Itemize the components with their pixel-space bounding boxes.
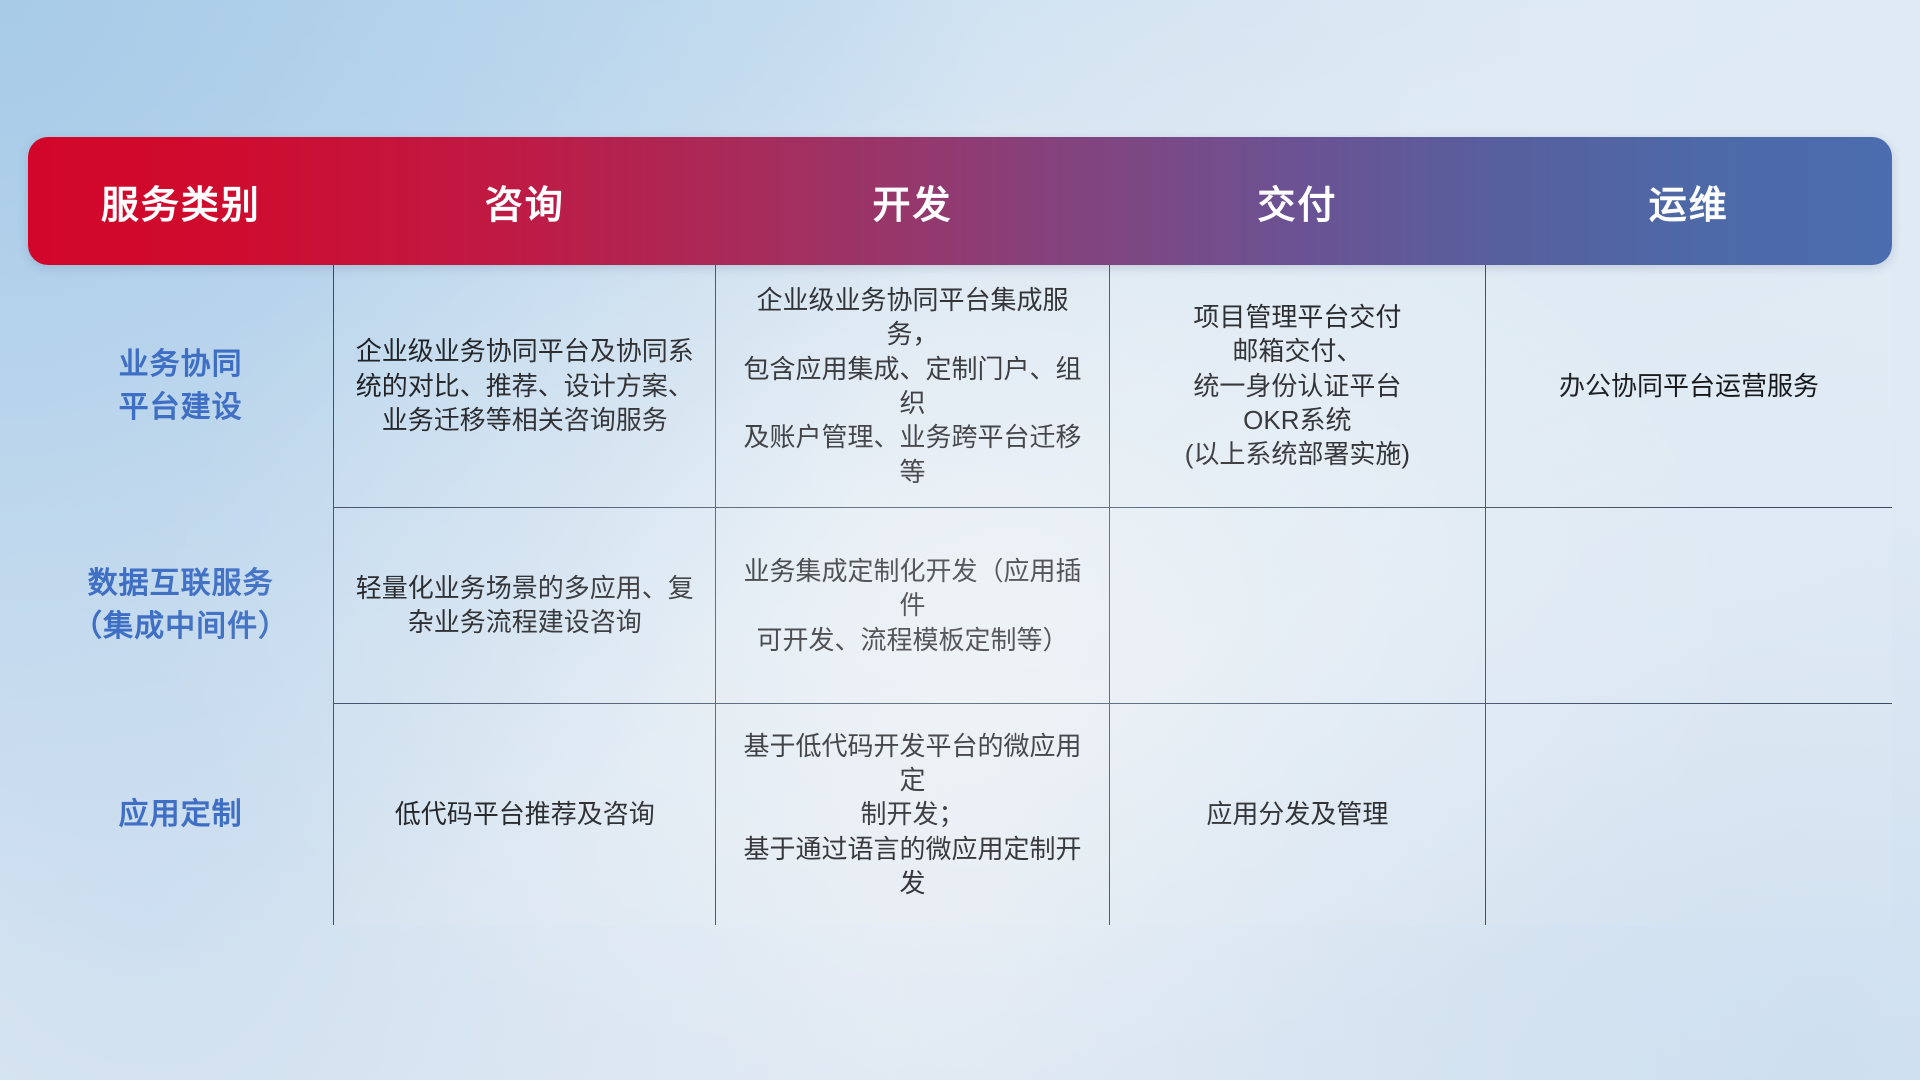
row-category-label: 数据互联服务 （集成中间件）: [28, 507, 334, 703]
cell-consulting: 轻量化业务场景的多应用、复 杂业务流程建设咨询: [334, 507, 716, 703]
row-category-label: 业务协同 平台建设: [28, 265, 334, 507]
cell-delivery: [1109, 507, 1486, 703]
service-matrix-table-wrapper: 服务类别 咨询 开发 交付 运维 业务协同 平台建设 企业级业务协同平台及协同系…: [28, 137, 1892, 925]
table-row: 应用定制 低代码平台推荐及咨询 基于低代码开发平台的微应用定 制开发； 基于通过…: [28, 703, 1892, 925]
cell-operations: [1486, 507, 1892, 703]
slide-canvas: 服务类别 咨询 开发 交付 运维 业务协同 平台建设 企业级业务协同平台及协同系…: [0, 0, 1920, 1080]
cell-development: 企业级业务协同平台集成服务， 包含应用集成、定制门户、组织 及账户管理、业务跨平…: [716, 265, 1109, 507]
column-header-consulting: 咨询: [334, 137, 716, 265]
cell-consulting: 低代码平台推荐及咨询: [334, 703, 716, 925]
column-header-operations: 运维: [1486, 137, 1892, 265]
cell-operations: 办公协同平台运营服务: [1486, 265, 1892, 507]
table-body: 业务协同 平台建设 企业级业务协同平台及协同系 统的对比、推荐、设计方案、 业务…: [28, 265, 1892, 925]
column-header-delivery: 交付: [1109, 137, 1486, 265]
table-row: 业务协同 平台建设 企业级业务协同平台及协同系 统的对比、推荐、设计方案、 业务…: [28, 265, 1892, 507]
cell-consulting: 企业级业务协同平台及协同系 统的对比、推荐、设计方案、 业务迁移等相关咨询服务: [334, 265, 716, 507]
row-category-label: 应用定制: [28, 703, 334, 925]
column-header-category: 服务类别: [28, 137, 334, 265]
cell-development: 基于低代码开发平台的微应用定 制开发； 基于通过语言的微应用定制开发: [716, 703, 1109, 925]
service-matrix-table: 服务类别 咨询 开发 交付 运维 业务协同 平台建设 企业级业务协同平台及协同系…: [28, 137, 1892, 925]
table-row: 数据互联服务 （集成中间件） 轻量化业务场景的多应用、复 杂业务流程建设咨询 业…: [28, 507, 1892, 703]
cell-development: 业务集成定制化开发（应用插件 可开发、流程模板定制等）: [716, 507, 1109, 703]
cell-delivery: 应用分发及管理: [1109, 703, 1486, 925]
cell-delivery: 项目管理平台交付 邮箱交付、 统一身份认证平台 OKR系统 (以上系统部署实施): [1109, 265, 1486, 507]
column-header-development: 开发: [716, 137, 1109, 265]
cell-operations: [1486, 703, 1892, 925]
table-header-row: 服务类别 咨询 开发 交付 运维: [28, 137, 1892, 265]
